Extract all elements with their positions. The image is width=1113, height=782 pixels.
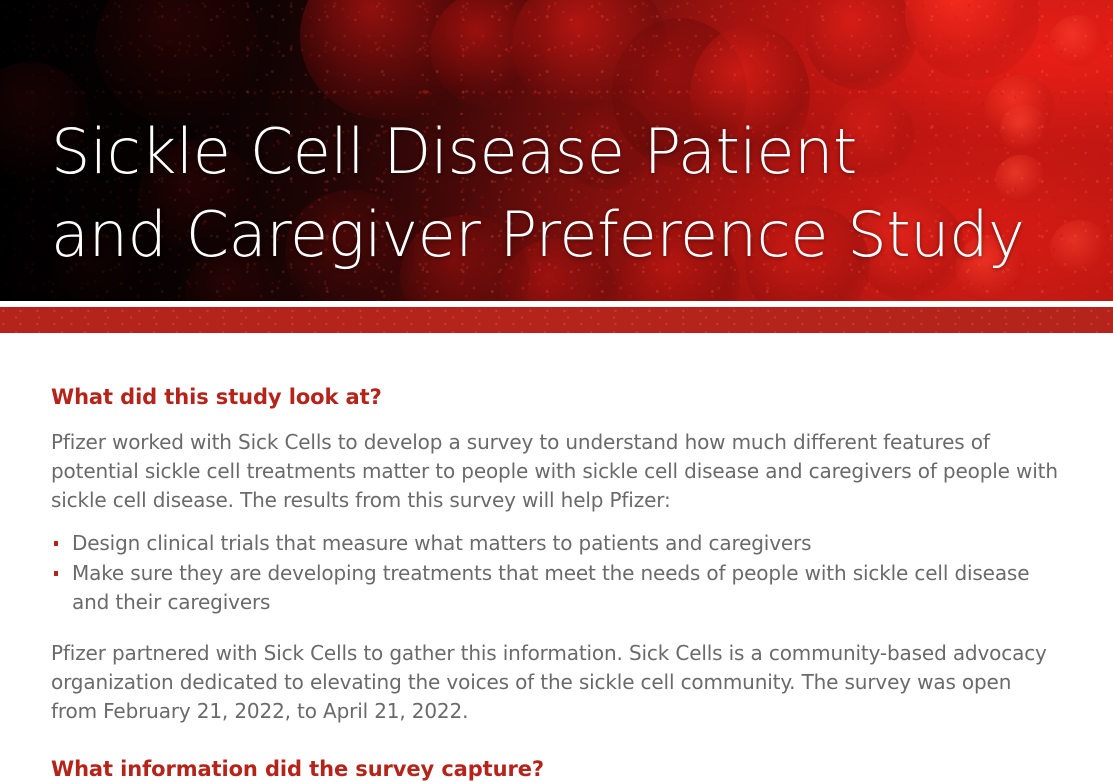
list-item: Design clinical trials that measure what… bbox=[51, 529, 1061, 558]
document-body: What did this study look at? Pfizer work… bbox=[0, 333, 1113, 782]
study-goals-list: Design clinical trials that measure what… bbox=[51, 529, 1062, 617]
list-item-label: Make sure they are developing treatments… bbox=[72, 561, 1029, 614]
accent-divider-bar bbox=[0, 307, 1113, 333]
section-survey-capture: What information did the survey capture? bbox=[51, 756, 1062, 782]
paragraph-study-intro: Pfizer worked with Sick Cells to develop… bbox=[51, 428, 1061, 515]
list-item: Make sure they are developing treatments… bbox=[51, 559, 1061, 617]
section-heading-survey-capture: What information did the survey capture? bbox=[51, 756, 1062, 782]
page-title: Sickle Cell Disease Patient and Caregive… bbox=[51, 110, 1071, 276]
section-spacer bbox=[51, 740, 1062, 756]
hero-banner: Sickle Cell Disease Patient and Caregive… bbox=[0, 0, 1113, 301]
bullet-marker-icon bbox=[54, 571, 58, 576]
list-item-label: Design clinical trials that measure what… bbox=[72, 531, 811, 555]
section-study-overview: What did this study look at? Pfizer work… bbox=[51, 384, 1062, 726]
section-heading-study-look-at: What did this study look at? bbox=[51, 384, 1062, 410]
bullet-marker-icon bbox=[54, 541, 58, 546]
paragraph-sick-cells-partnership: Pfizer partnered with Sick Cells to gath… bbox=[51, 639, 1061, 726]
